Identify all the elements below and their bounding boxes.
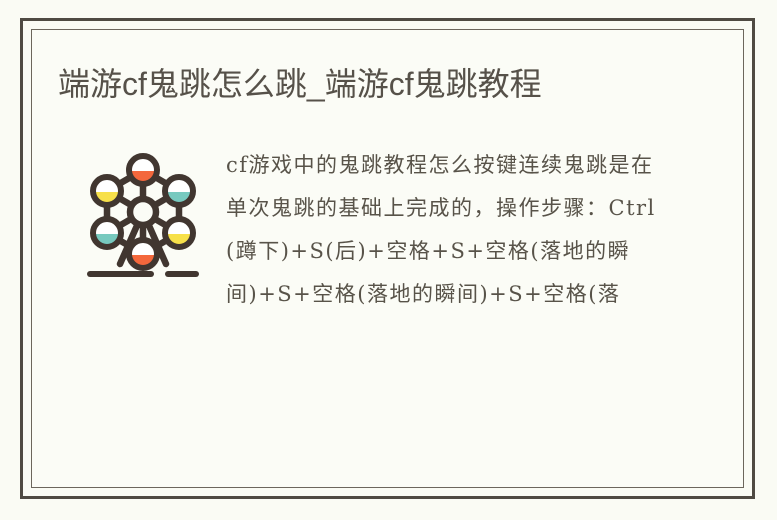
cabin-upper-left bbox=[93, 177, 121, 206]
cabin-top bbox=[129, 156, 157, 185]
decorative-outer-frame: 端游cf鬼跳怎么跳_端游cf鬼跳教程 bbox=[20, 18, 755, 499]
article-excerpt: cf游戏中的鬼跳教程怎么按键连续鬼跳是在单次鬼跳的基础上完成的，操作步骤：Ctr… bbox=[226, 142, 656, 316]
article-container: 端游cf鬼跳怎么跳_端游cf鬼跳教程 bbox=[32, 30, 743, 487]
cabin-lower-right bbox=[165, 219, 193, 248]
cabin-bottom bbox=[129, 240, 157, 269]
ferris-wheel-hub bbox=[130, 199, 156, 225]
decorative-inner-frame: 端游cf鬼跳怎么跳_端游cf鬼跳教程 bbox=[31, 29, 744, 488]
page-root: 端游cf鬼跳怎么跳_端游cf鬼跳教程 bbox=[0, 0, 777, 520]
cabin-upper-right bbox=[165, 177, 193, 206]
article-body: cf游戏中的鬼跳教程怎么按键连续鬼跳是在单次鬼跳的基础上完成的，操作步骤：Ctr… bbox=[58, 142, 717, 316]
ferris-wheel-icon bbox=[80, 146, 206, 278]
ferris-wheel-icon-svg bbox=[80, 146, 206, 278]
page-title: 端游cf鬼跳怎么跳_端游cf鬼跳教程 bbox=[58, 60, 668, 108]
cabin-lower-left bbox=[93, 219, 121, 248]
